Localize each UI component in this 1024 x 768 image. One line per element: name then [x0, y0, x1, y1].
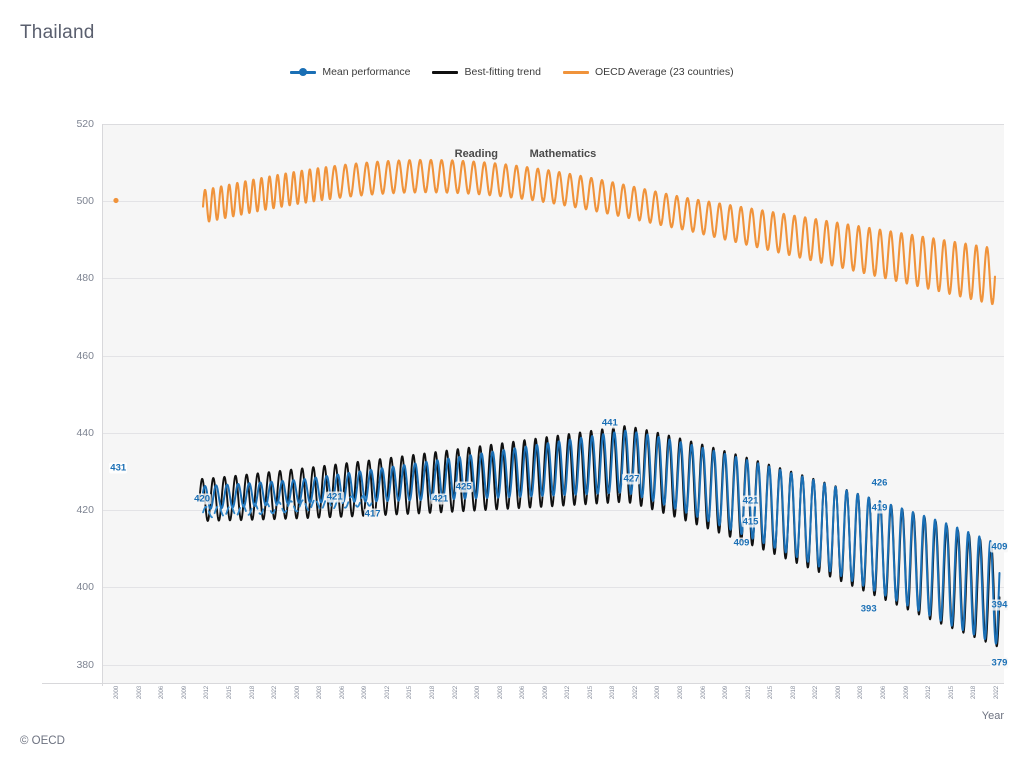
x-axis-tick-label: 2009 — [542, 686, 549, 699]
x-axis-tick-label: 2000 — [294, 686, 301, 699]
x-axis-tick-label: 2018 — [970, 686, 977, 699]
data-label: 409 — [991, 541, 1009, 552]
x-axis-tick-label: 2003 — [316, 686, 323, 699]
x-axis-tick-label: 2022 — [632, 686, 639, 699]
x-axis-tick-label: 2003 — [857, 686, 864, 699]
x-axis-tick-label: 2009 — [722, 686, 729, 699]
data-label: 394 — [991, 599, 1009, 610]
data-label: 427 — [623, 474, 641, 485]
x-axis-tick-label: 2003 — [136, 686, 143, 699]
x-axis-tick-label: 2015 — [767, 686, 774, 699]
x-axis-tick-label: 2012 — [203, 686, 210, 699]
legend-item-mean-performance[interactable]: Mean performance — [290, 66, 410, 78]
legend-swatch-best-fitting-trend — [432, 67, 458, 77]
data-label: 420 — [193, 493, 211, 504]
chart-legend: Mean performance Best-fitting trend OECD… — [0, 66, 1024, 78]
x-axis-tick-label: 2022 — [993, 686, 1000, 699]
x-axis-tick-label: 2022 — [812, 686, 819, 699]
series-canvas — [42, 124, 1004, 684]
panel-label-reading: Reading — [455, 148, 498, 160]
x-axis-tick-label: 2022 — [452, 686, 459, 699]
x-axis-tick-label: 2000 — [113, 686, 120, 699]
x-axis-tick-label: 2015 — [406, 686, 413, 699]
x-axis-tick-label: 2012 — [564, 686, 571, 699]
data-label: 441 — [601, 418, 619, 429]
data-label: 421 — [326, 491, 344, 502]
data-label: 421 — [742, 495, 760, 506]
x-axis-title: Year — [982, 710, 1004, 722]
series-path — [203, 431, 999, 644]
legend-label-best-fitting-trend: Best-fitting trend — [464, 66, 540, 78]
x-axis-tick-label: 2006 — [158, 686, 165, 699]
series-path — [199, 426, 999, 646]
legend-swatch-oecd-average — [563, 67, 589, 77]
data-label: 421 — [431, 493, 449, 504]
data-label: 419 — [871, 503, 889, 514]
x-axis-tick-label: 2003 — [677, 686, 684, 699]
x-axis-tick-label: 2006 — [519, 686, 526, 699]
data-label: 415 — [742, 516, 760, 527]
oecd-average-first-point — [113, 198, 118, 203]
data-label: 417 — [364, 509, 382, 520]
x-axis-tick-label: 2000 — [835, 686, 842, 699]
chart-plot-area: 380400420440460480500520 ReadingMathemat… — [42, 124, 1004, 684]
x-axis-tick-label: 2015 — [587, 686, 594, 699]
x-axis-tick-label: 2018 — [790, 686, 797, 699]
x-axis-tick-label: 2000 — [474, 686, 481, 699]
data-label: 431 — [109, 462, 127, 473]
x-axis-tick-label: 2012 — [745, 686, 752, 699]
x-axis-tick-label: 2009 — [903, 686, 910, 699]
x-axis-tick-label: 2012 — [925, 686, 932, 699]
data-label: 426 — [871, 478, 889, 489]
x-axis-tick-label: 2006 — [339, 686, 346, 699]
x-axis-tick-label: 2015 — [948, 686, 955, 699]
footer-copyright: © OECD — [20, 735, 65, 747]
legend-item-oecd-average[interactable]: OECD Average (23 countries) — [563, 66, 734, 78]
data-label: 393 — [860, 603, 878, 614]
x-axis-tick-label: 2000 — [654, 686, 661, 699]
x-axis-ticks: 2000200320062009201220152018202220002003… — [42, 684, 1004, 710]
x-axis-tick-label: 2012 — [384, 686, 391, 699]
x-axis-tick-label: 2003 — [497, 686, 504, 699]
data-label: 409 — [733, 538, 751, 549]
legend-label-mean-performance: Mean performance — [322, 66, 410, 78]
legend-label-oecd-average: OECD Average (23 countries) — [595, 66, 734, 78]
x-axis-tick-label: 2006 — [700, 686, 707, 699]
x-axis-tick-label: 2018 — [609, 686, 616, 699]
page-title: Thailand — [20, 22, 94, 44]
x-axis-tick-label: 2009 — [181, 686, 188, 699]
legend-swatch-mean-performance — [290, 67, 316, 77]
series-path — [203, 167, 332, 221]
panel-label-mathematics: Mathematics — [530, 148, 597, 160]
x-axis-tick-label: 2018 — [429, 686, 436, 699]
data-label: 425 — [455, 482, 473, 493]
x-axis-tick-label: 2022 — [271, 686, 278, 699]
x-axis-tick-label: 2015 — [226, 686, 233, 699]
x-axis-tick-label: 2009 — [361, 686, 368, 699]
data-label: 379 — [991, 657, 1009, 668]
series-path — [332, 160, 995, 304]
x-axis-tick-label: 2018 — [249, 686, 256, 699]
legend-item-best-fitting-trend[interactable]: Best-fitting trend — [432, 66, 540, 78]
x-axis-tick-label: 2006 — [880, 686, 887, 699]
